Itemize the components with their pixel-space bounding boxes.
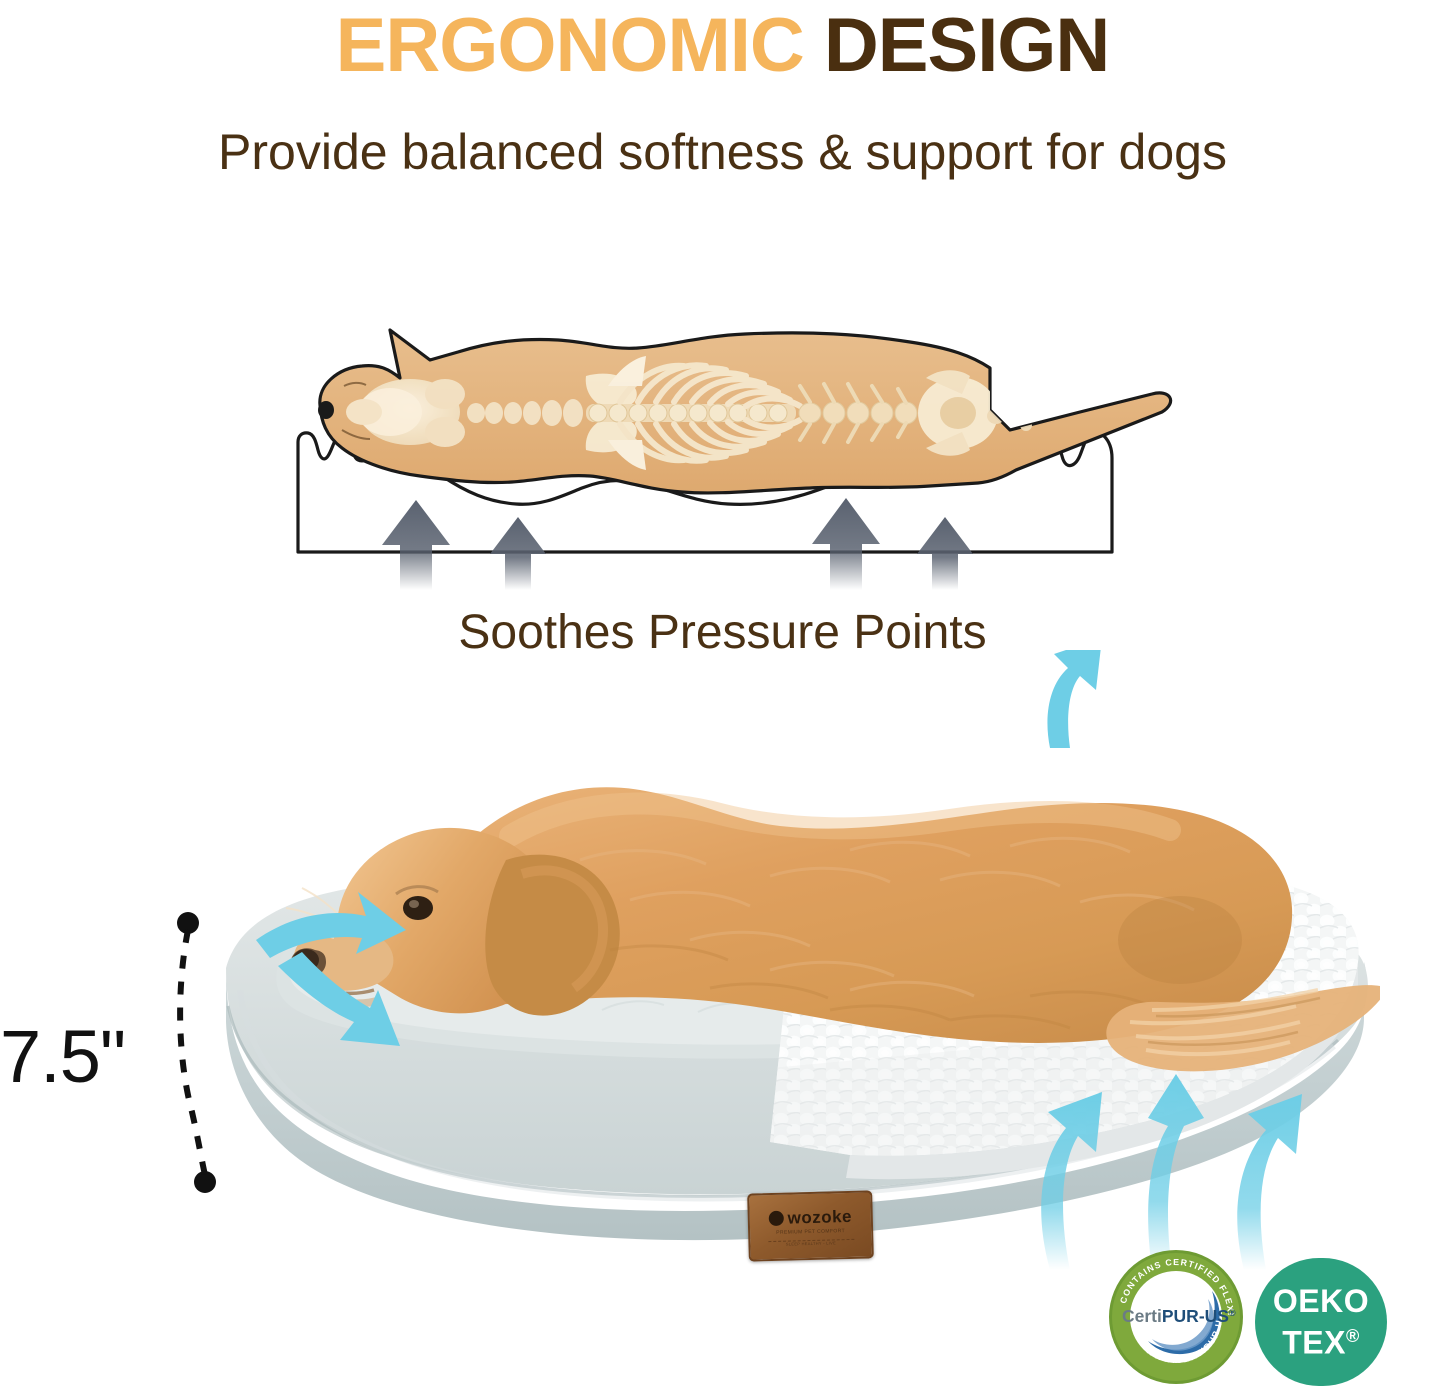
ergonomic-support-diagram: [290, 290, 1220, 590]
brand-leather-tag: wozoke PREMIUM PET COMFORT SLEEP HEALTHY…: [747, 1190, 874, 1261]
brand-tagline: PREMIUM PET COMFORT: [776, 1228, 845, 1236]
oeko-tex-badge: OEKO TEX®: [1255, 1258, 1387, 1386]
certipur-center-text: CertiPUR-US®: [1122, 1306, 1236, 1326]
product-photo: [150, 650, 1380, 1270]
page-title-dark: DESIGN: [824, 3, 1109, 88]
oeko-tex-line1: OEKO: [1273, 1284, 1369, 1319]
dog-nose: [318, 401, 334, 419]
page-title-highlight: ERGONOMIC: [336, 3, 804, 88]
oeko-tex-line2: TEX®: [1282, 1319, 1360, 1361]
brand-name: wozoke: [787, 1207, 852, 1227]
page-subtitle: Provide balanced softness & support for …: [0, 122, 1445, 182]
airflow-arrow-top: [1047, 650, 1102, 748]
bed-height-measure-line: [150, 900, 260, 1210]
page-title: ERGONOMIC DESIGN: [0, 2, 1445, 90]
brand-rule-text: SLEEP HEALTHY - LIVE: [768, 1238, 854, 1244]
bed-height-label: 7.5": [0, 1020, 125, 1094]
brand-logo-icon: [768, 1211, 783, 1226]
certipur-us-badge: CONTAINS CERTIFIED FLEXIBLE POLYURETHANE…: [1108, 1249, 1244, 1385]
dog-eye: [403, 896, 433, 920]
